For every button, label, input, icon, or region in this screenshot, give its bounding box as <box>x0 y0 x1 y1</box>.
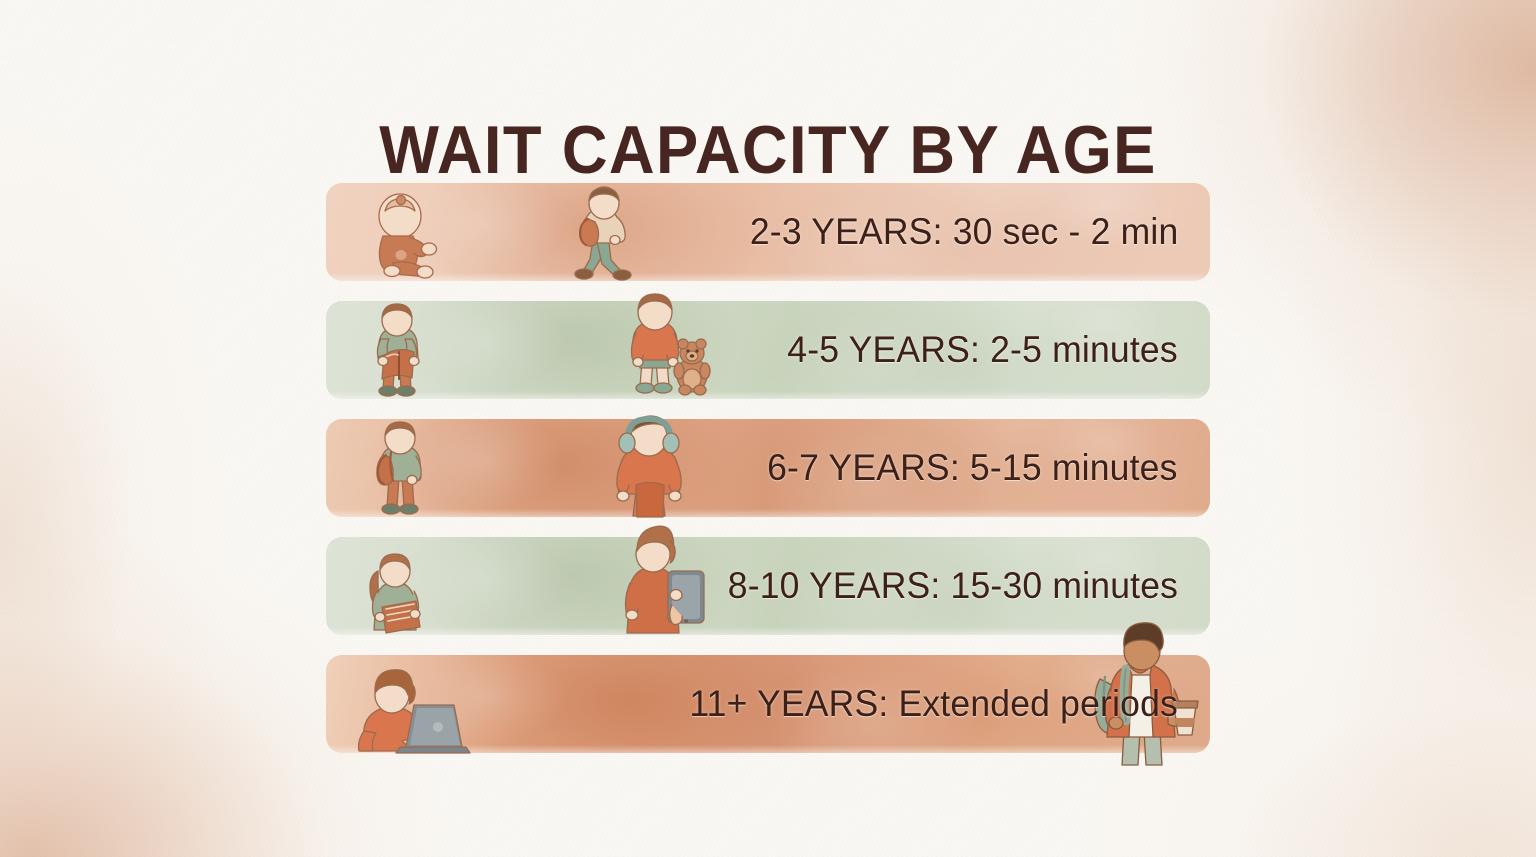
age-row-2-3[interactable]: 2-3 YEARS: 30 sec - 2 min <box>326 183 1210 281</box>
age-rows-list: 2-3 YEARS: 30 sec - 2 min <box>0 183 1536 753</box>
age-row-11-plus[interactable]: 11+ YEARS: Extended periods <box>326 655 1210 753</box>
row-label: 4-5 YEARS: 2-5 minutes <box>787 301 1178 399</box>
page-title: WAIT CAPACITY BY AGE <box>54 116 1482 184</box>
infographic-poster: WAIT CAPACITY BY AGE <box>0 0 1536 857</box>
row-label: 11+ YEARS: Extended periods <box>689 655 1178 753</box>
row-label: 8-10 YEARS: 15-30 minutes <box>728 537 1178 635</box>
age-row-6-7[interactable]: 6-7 YEARS: 5-15 minutes <box>326 419 1210 517</box>
age-row-4-5[interactable]: 4-5 YEARS: 2-5 minutes <box>326 301 1210 399</box>
age-row-8-10[interactable]: 8-10 YEARS: 15-30 minutes <box>326 537 1210 635</box>
row-label: 2-3 YEARS: 30 sec - 2 min <box>749 183 1178 281</box>
row-label: 6-7 YEARS: 5-15 minutes <box>768 419 1178 517</box>
